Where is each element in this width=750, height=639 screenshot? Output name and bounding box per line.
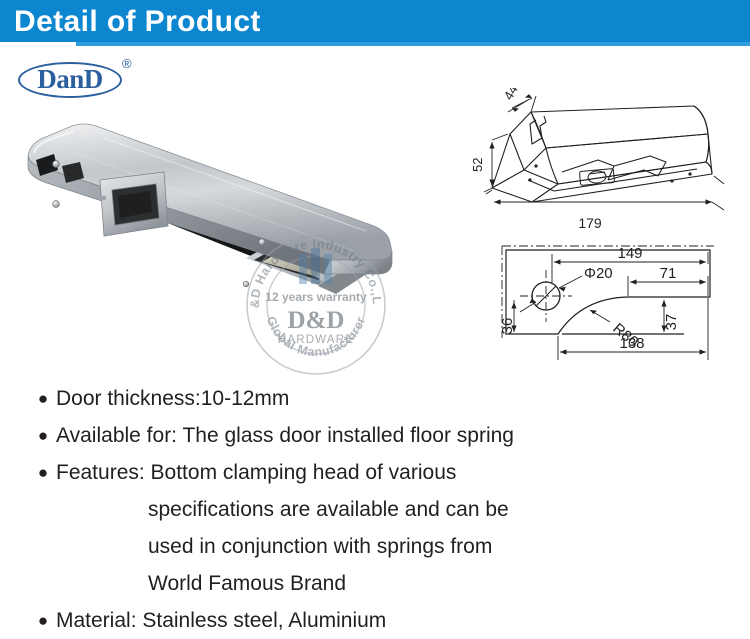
spec-text: Features: Bottom clamping head of variou… — [56, 454, 456, 491]
dimension-line-52 — [484, 134, 508, 192]
photo-front-panel — [100, 172, 168, 236]
leader-line-r80 — [590, 310, 610, 322]
bullet-icon: ● — [30, 602, 56, 639]
spec-text: specifications are available and can be — [56, 491, 509, 528]
iso-body-outline — [492, 106, 712, 202]
spec-text: Door thickness:10-12mm — [56, 380, 289, 417]
dimension-label-138: 138 — [619, 335, 644, 352]
dimension-label-149: 149 — [617, 245, 642, 262]
spec-item-continuation: ● used in conjunction with springs from — [30, 528, 730, 565]
plan-hole — [520, 270, 572, 322]
dimension-label-71: 71 — [660, 265, 677, 282]
spec-item: ● Material: Stainless steel, Aluminium — [30, 602, 730, 639]
page-title: Detail of Product — [14, 3, 261, 41]
dimension-label-37: 37 — [663, 314, 680, 331]
logo-wordmark: DanD — [18, 62, 122, 98]
dimension-label-44-5: 44.5 — [501, 88, 527, 103]
product-spec-list: ● Door thickness:10-12mm ● Available for… — [30, 380, 730, 639]
spec-item-continuation: ● World Famous Brand — [30, 565, 730, 602]
watermark-bottom-arc-text: Global Manufacturer — [264, 314, 368, 359]
dimension-label-179: 179 — [578, 215, 602, 231]
bullet-icon: ● — [30, 454, 56, 491]
spec-text: World Famous Brand — [56, 565, 346, 602]
bullet-icon: ● — [30, 417, 56, 454]
drawing-isometric-view: 44.5 52 179 — [462, 88, 750, 236]
watermark-center-subtext: HARDWARE — [278, 334, 354, 346]
spec-item-continuation: ● specifications are available and can b… — [30, 491, 730, 528]
spec-text: Available for: The glass door installed … — [56, 417, 514, 454]
spec-item: ● Features: Bottom clamping head of vari… — [30, 454, 730, 491]
spec-item: ● Door thickness:10-12mm — [30, 380, 730, 417]
svg-text:Global Manufacturer: Global Manufacturer — [264, 314, 368, 359]
registered-trademark-icon: ® — [122, 56, 132, 71]
dimension-label-52: 52 — [470, 158, 485, 172]
photo-steel-cover — [28, 124, 392, 274]
dimension-label-phi20: Φ20 — [584, 265, 613, 282]
product-photo — [14, 108, 434, 308]
spec-text: used in conjunction with springs from — [56, 528, 492, 565]
drawing-plan-view: Φ20 149 71 36 R80 37 — [462, 234, 750, 376]
spec-item: ● Available for: The glass door installe… — [30, 417, 730, 454]
dimension-line-179 — [486, 176, 724, 210]
bullet-icon: ● — [30, 380, 56, 417]
dimension-label-36: 36 — [499, 318, 516, 335]
spec-text: Material: Stainless steel, Aluminium — [56, 602, 386, 639]
plan-centerlines — [502, 246, 714, 338]
watermark-center-text: D&D — [288, 307, 345, 334]
brand-logo: DanD ® — [18, 54, 138, 100]
header-underline — [76, 42, 750, 46]
leader-line-phi20 — [559, 276, 582, 292]
